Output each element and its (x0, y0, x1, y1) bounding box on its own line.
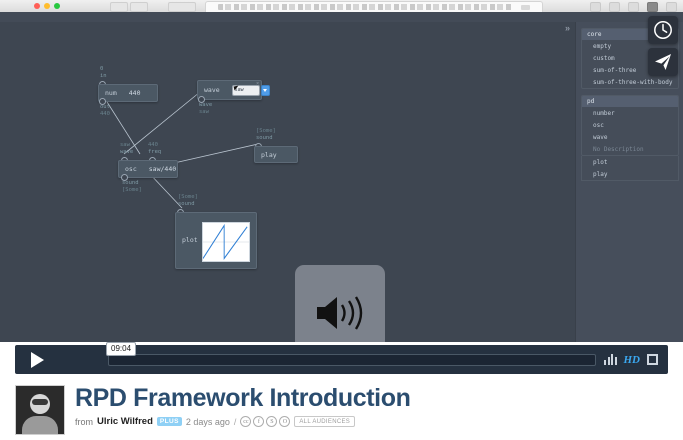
plot-waveform-graph (202, 222, 250, 262)
avatar[interactable] (15, 385, 65, 435)
play-inlet-type: [Some] (256, 128, 276, 134)
clock-icon (653, 20, 673, 40)
node-osc-title: osc (119, 165, 143, 173)
palette-group-pd-header[interactable]: pd (582, 96, 678, 107)
node-wave[interactable]: wave saw × (197, 80, 262, 100)
noncommercial-icon[interactable]: O (279, 416, 290, 427)
menu-icon[interactable] (666, 2, 677, 12)
palette-item-sum-of-three-with-body[interactable]: sum-of-three-with-body (582, 76, 678, 88)
player-controls[interactable]: 09:04 HD (15, 345, 668, 374)
osc-outlet-type: [Some] (122, 187, 142, 193)
history-button[interactable] (648, 16, 678, 44)
player-right-controls[interactable]: HD (604, 354, 668, 366)
volume-icon[interactable] (604, 354, 617, 365)
node-plot[interactable]: plot (175, 212, 257, 269)
from-label: from (75, 417, 93, 427)
window-traffic-lights[interactable] (34, 3, 60, 9)
patch-wires (0, 22, 575, 342)
page-title: RPD Framework Introduction (75, 385, 668, 411)
video-stage[interactable]: » 0 in num 440 out 440 w (0, 12, 683, 342)
send-icon (653, 52, 673, 72)
app-top-bar (0, 12, 683, 22)
osc-inlet-wave-value: saw (120, 142, 130, 148)
share-icon[interactable] (590, 2, 601, 12)
speaker-icon (313, 292, 367, 334)
bookmark-icon[interactable] (609, 2, 620, 12)
osc-inlet-freq-value: 440 (148, 142, 158, 148)
node-wave-close-icon[interactable]: × (256, 82, 259, 87)
author-link[interactable]: Ulric Wilfred (97, 416, 153, 427)
play-button[interactable] (15, 345, 59, 374)
minimize-window-icon[interactable] (44, 3, 50, 9)
separator: / (234, 417, 237, 427)
send-button[interactable] (648, 48, 678, 76)
cc-icon[interactable]: cc (240, 416, 251, 427)
page-root: » 0 in num 440 out 440 w (0, 0, 683, 440)
node-play[interactable]: play (254, 146, 298, 163)
license-icons[interactable]: cc f S O (240, 416, 290, 427)
palette-item-play[interactable]: play (582, 168, 678, 180)
plot-inlet-label: sound (178, 201, 195, 207)
node-plot-title: plot (182, 236, 198, 244)
palette-item-wave[interactable]: wave (582, 131, 678, 143)
wave-outlet-value: saw (199, 109, 209, 115)
back-button[interactable] (110, 2, 128, 12)
share-alike-icon[interactable]: S (266, 416, 277, 427)
osc-inlet-wave-label: wave (120, 149, 133, 155)
sawtooth-waveform-icon (203, 223, 249, 261)
osc-inlet-freq-label: freq (148, 149, 161, 155)
video-submeta: from Ulric Wilfred PLUS 2 days ago / cc … (75, 416, 668, 427)
palette-group-pd-description: No Description (582, 143, 678, 155)
upload-date: 2 days ago (186, 417, 230, 427)
num-outlet-label: out (100, 104, 110, 110)
forward-button[interactable] (130, 2, 148, 12)
palette-item-osc[interactable]: osc (582, 119, 678, 131)
downloads-icon[interactable] (628, 2, 639, 12)
node-num-title: num (99, 89, 123, 97)
chrome-right-icons[interactable] (590, 2, 677, 12)
video-info: RPD Framework Introduction from Ulric Wi… (15, 385, 668, 435)
timeline-wrapper[interactable]: 09:04 (59, 345, 604, 374)
address-bar[interactable] (168, 2, 196, 12)
progress-loaded (109, 355, 590, 363)
zoom-window-icon[interactable] (54, 3, 60, 9)
num-outlet-value: 440 (100, 111, 110, 117)
hd-badge[interactable]: HD (624, 354, 641, 366)
current-time-tooltip: 09:04 (106, 342, 136, 356)
patch-canvas[interactable]: » 0 in num 440 out 440 w (0, 22, 575, 342)
video-meta: RPD Framework Introduction from Ulric Wi… (75, 385, 668, 435)
play-inlet-label: sound (256, 135, 273, 141)
profile-icon[interactable] (647, 2, 658, 12)
node-num[interactable]: num 440 (98, 84, 158, 102)
fullscreen-icon[interactable] (647, 354, 658, 365)
palette-item-plot[interactable]: plot (582, 156, 678, 168)
attribution-icon[interactable]: f (253, 416, 264, 427)
close-window-icon[interactable] (34, 3, 40, 9)
node-num-value[interactable]: 440 (129, 89, 141, 97)
num-inlet-index: 0 (100, 66, 103, 72)
palette-item-number[interactable]: number (582, 107, 678, 119)
play-icon (31, 352, 44, 368)
wave-outlet-label: wave (199, 102, 212, 108)
audience-badge: ALL AUDIENCES (294, 416, 355, 427)
node-play-title: play (255, 151, 283, 159)
osc-outlet-label: sound (122, 180, 139, 186)
num-inlet-label: in (100, 73, 107, 79)
progress-track[interactable] (108, 354, 596, 366)
plot-inlet-type: [Some] (178, 194, 198, 200)
palette-group-pd: pd number osc wave No Description (581, 95, 679, 156)
chevron-down-icon[interactable] (261, 85, 270, 96)
tab-title (218, 4, 512, 10)
volume-overlay (295, 265, 385, 342)
node-osc-value: saw/440 (149, 165, 176, 173)
tab-close-icon[interactable] (521, 5, 530, 10)
plus-badge[interactable]: PLUS (157, 417, 182, 426)
node-wave-title: wave (198, 86, 226, 94)
palette-flat-list: plot play (581, 156, 679, 181)
